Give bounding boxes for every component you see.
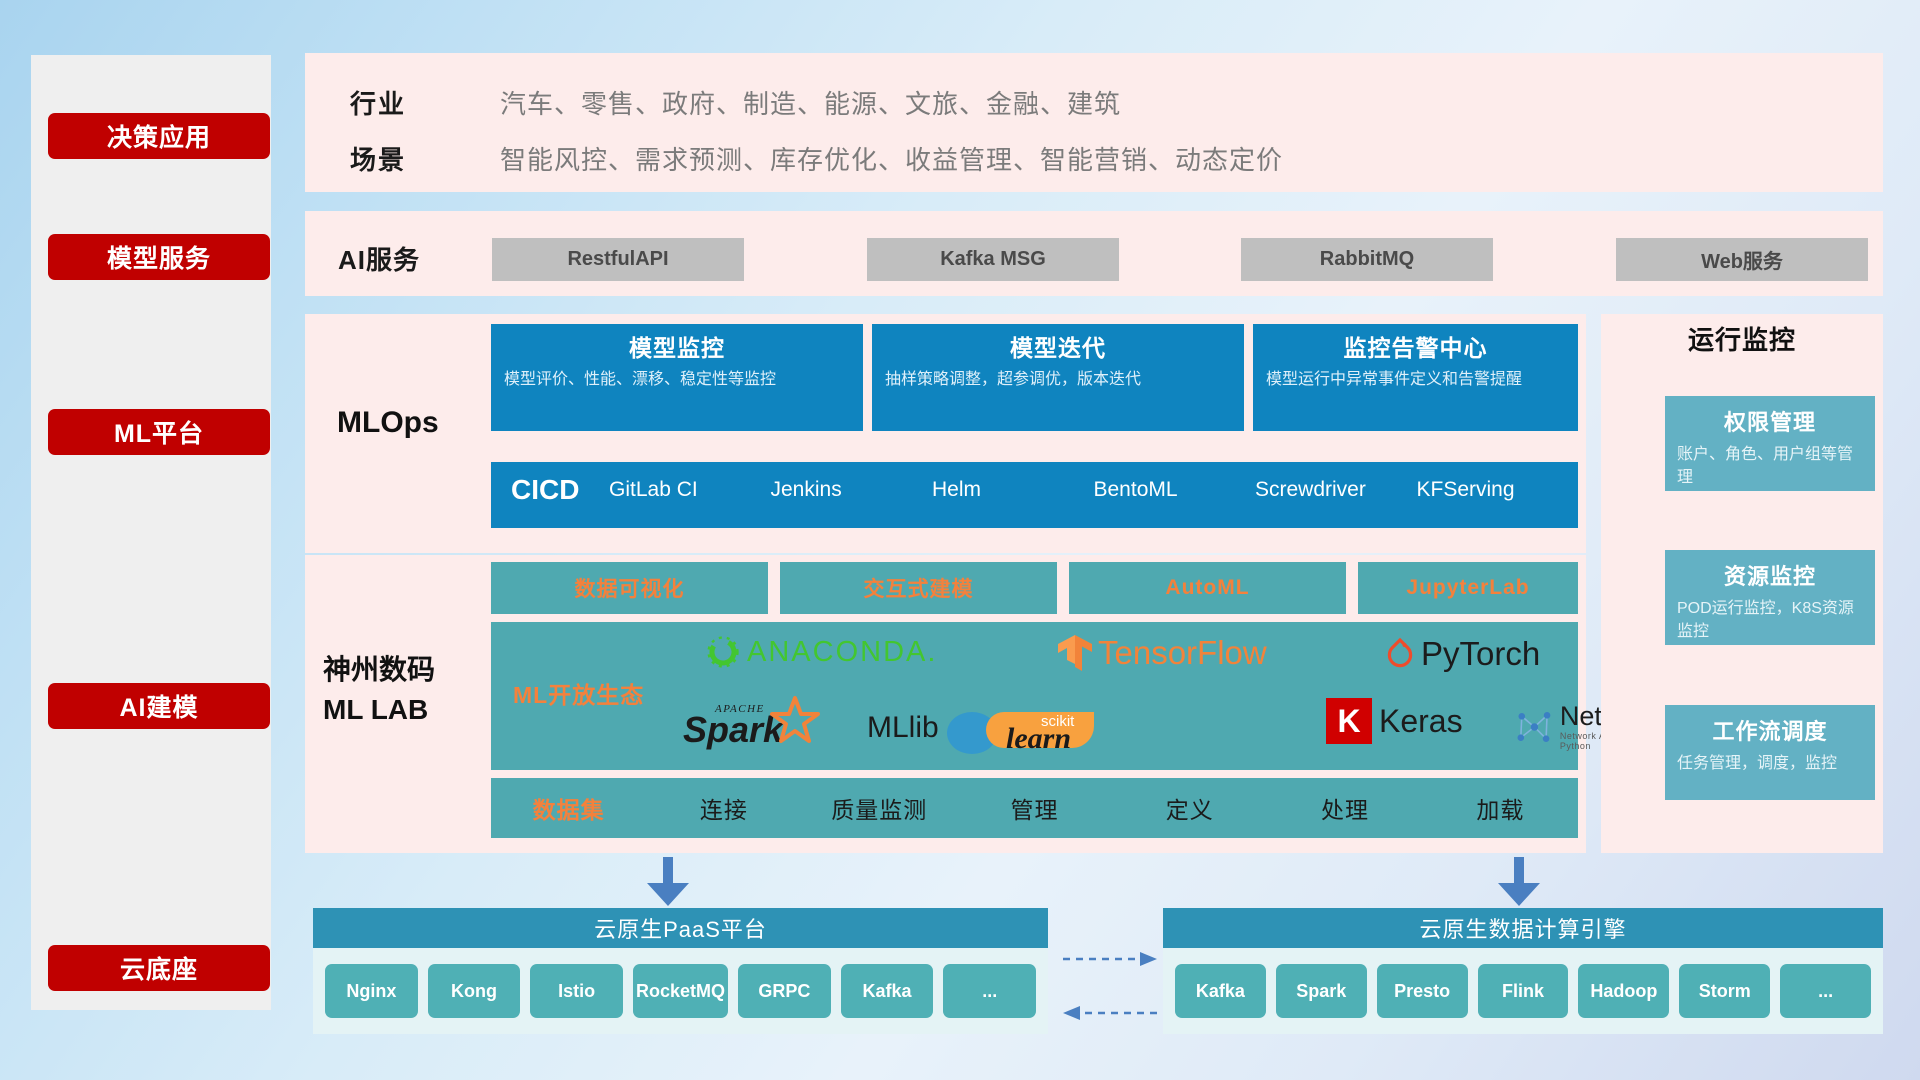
dataset-item-load[interactable]: 加载 [1423,791,1578,825]
stage-chip-cloud-base[interactable]: 云底座 [48,945,270,991]
anaconda-logo: ANACONDA. [706,635,937,669]
cicd-tool-helm[interactable]: Helm [932,462,1094,505]
dataset-item-manage[interactable]: 管理 [957,791,1112,825]
mlops-card-title: 模型监控 [504,333,850,363]
mlops-card-model-iteration[interactable]: 模型迭代 抽样策略调整，超参调优，版本迭代 [872,324,1244,431]
application-row-key-industry: 行业 [350,84,406,121]
monitor-card-desc: 账户、角色、用户组等管理 [1677,443,1863,489]
dataset-item-define[interactable]: 定义 [1112,791,1267,825]
arrow-up-compute-icon [1498,857,1540,906]
monitor-card-desc: 任务管理，调度，监控 [1677,752,1863,775]
monitor-card-title: 权限管理 [1677,405,1863,437]
mlops-card-desc: 模型运行中异常事件定义和告警提醒 [1266,368,1565,392]
pytorch-wordmark: PyTorch [1421,635,1540,673]
cicd-tool-bentoml[interactable]: BentoML [1094,462,1256,505]
stage-rail [31,55,271,1010]
mllib-wordmark: MLlib [867,711,939,745]
pytorch-flame-icon [1384,637,1416,671]
svg-text:learn: learn [1006,722,1071,755]
lab-tab-interactive-modeling[interactable]: 交互式建模 [780,562,1057,614]
compute-tag-storm[interactable]: Storm [1679,964,1770,1018]
service-chip-rabbitmq[interactable]: RabbitMQ [1241,238,1493,281]
monitor-card-title: 工作流调度 [1677,714,1863,746]
lab-tab-jupyterlab[interactable]: JupyterLab [1358,562,1578,614]
cicd-tool-jenkins[interactable]: Jenkins [771,462,933,505]
paas-tag-istio[interactable]: Istio [530,964,623,1018]
paas-tag-grpc[interactable]: GRPC [738,964,831,1018]
stage-chip-model-service[interactable]: 模型服务 [48,234,270,280]
service-chip-restfulapi[interactable]: RestfulAPI [492,238,744,281]
stage-chip-ai-modeling[interactable]: AI建模 [48,683,270,729]
dataset-item-connect[interactable]: 连接 [646,791,801,825]
mlops-label: MLOps [337,406,439,440]
apache-spark-mark-icon: APACHE Spark [683,694,863,750]
cicd-tool-gitlab-ci[interactable]: GitLab CI [609,462,771,505]
paas-platform-header: 云原生PaaS平台 [313,908,1048,948]
tensorflow-wordmark: TensorFlow [1098,634,1267,672]
diagram-canvas: 决策应用 模型服务 ML平台 AI建模 云底座 行业 汽车、零售、政府、制造、能… [0,0,1920,1080]
dataset-item-process[interactable]: 处理 [1267,791,1422,825]
compute-engine-header: 云原生数据计算引擎 [1163,908,1883,948]
keras-wordmark: Keras [1379,703,1463,740]
cicd-strip: CICD GitLab CI Jenkins Helm BentoML Scre… [491,462,1578,528]
spark-mllib-logo: APACHE Spark MLlib [683,694,939,750]
lab-tab-automl[interactable]: AutoML [1069,562,1346,614]
mlops-card-title: 模型迭代 [885,333,1231,363]
compute-tag-hadoop[interactable]: Hadoop [1578,964,1669,1018]
ml-lab-label-line2: ML LAB [323,690,435,730]
compute-tag-flink[interactable]: Flink [1478,964,1569,1018]
ml-ecosystem-panel: ML开放生态 ANACONDA. TensorFlow PyTorch [491,622,1578,770]
arrow-left-head-icon [1063,1006,1080,1020]
application-row-value-scenario: 智能风控、需求预测、库存优化、收益管理、智能营销、动态定价 [500,140,1283,177]
ml-lab-label: 神州数码 ML LAB [323,650,435,730]
cicd-head: CICD [491,462,609,505]
ml-lab-label-line1: 神州数码 [323,650,435,690]
application-row-key-scenario: 场景 [350,140,406,177]
mlops-card-desc: 模型评价、性能、漂移、稳定性等监控 [504,368,850,392]
dataset-head: 数据集 [491,791,646,825]
paas-tag-kong[interactable]: Kong [428,964,521,1018]
mlops-card-title: 监控告警中心 [1266,333,1565,363]
stage-chip-ml-platform[interactable]: ML平台 [48,409,270,455]
arrow-right-head-icon [1140,952,1157,966]
tensorflow-mark-icon [1056,633,1094,673]
ml-ecosystem-title: ML开放生态 [513,676,644,710]
compute-tag-kafka[interactable]: Kafka [1175,964,1266,1018]
keras-badge-letter: K [1337,703,1360,740]
compute-tag-row: Kafka Spark Presto Flink Hadoop Storm ..… [1163,948,1883,1034]
service-label: AI服务 [338,240,420,277]
paas-tag-rocketmq[interactable]: RocketMQ [633,964,728,1018]
compute-tag-presto[interactable]: Presto [1377,964,1468,1018]
anaconda-wordmark: ANACONDA. [747,636,937,669]
service-chip-web-service[interactable]: Web服务 [1616,238,1868,281]
stage-chip-decision[interactable]: 决策应用 [48,113,270,159]
monitor-card-desc: POD运行监控，K8S资源监控 [1677,597,1863,643]
compute-tag-more[interactable]: ... [1780,964,1871,1018]
compute-tag-spark[interactable]: Spark [1276,964,1367,1018]
mlops-card-model-monitoring[interactable]: 模型监控 模型评价、性能、漂移、稳定性等监控 [491,324,863,431]
cicd-tool-screwdriver[interactable]: Screwdriver [1255,462,1417,505]
tensorflow-logo: TensorFlow [1056,633,1267,673]
scikit-learn-logo: scikit learn [946,700,1126,756]
mlops-card-alert-center[interactable]: 监控告警中心 模型运行中异常事件定义和告警提醒 [1253,324,1578,431]
keras-badge-icon: K [1326,698,1372,744]
monitor-card-resources[interactable]: 资源监控 POD运行监控，K8S资源监控 [1665,550,1875,645]
monitor-card-permissions[interactable]: 权限管理 账户、角色、用户组等管理 [1665,396,1875,491]
svg-text:Spark: Spark [683,709,785,750]
keras-logo: K Keras [1326,698,1463,744]
dataset-item-quality[interactable]: 质量监测 [802,791,957,825]
service-chip-kafka-msg[interactable]: Kafka MSG [867,238,1119,281]
monitor-card-workflow[interactable]: 工作流调度 任务管理，调度，监控 [1665,705,1875,800]
paas-tag-nginx[interactable]: Nginx [325,964,418,1018]
scikit-learn-mark-icon: scikit learn [946,700,1126,756]
monitor-card-title: 资源监控 [1677,559,1863,591]
networkx-graph-icon [1514,706,1555,748]
arrow-up-paas-icon [647,857,689,906]
cicd-tool-kfserving[interactable]: KFServing [1417,462,1579,505]
anaconda-ring-icon [706,635,740,669]
mlops-card-desc: 抽样策略调整，超参调优，版本迭代 [885,368,1231,392]
application-row-value-industry: 汽车、零售、政府、制造、能源、文旅、金融、建筑 [500,84,1121,121]
paas-tag-more[interactable]: ... [943,964,1036,1018]
dataset-strip: 数据集 连接 质量监测 管理 定义 处理 加载 [491,778,1578,838]
monitor-column-title: 运行监控 [1601,320,1883,357]
paas-tag-row: Nginx Kong Istio RocketMQ GRPC Kafka ... [313,948,1048,1034]
lab-tab-data-visualization[interactable]: 数据可视化 [491,562,768,614]
pytorch-logo: PyTorch [1384,635,1540,673]
paas-tag-kafka[interactable]: Kafka [841,964,934,1018]
